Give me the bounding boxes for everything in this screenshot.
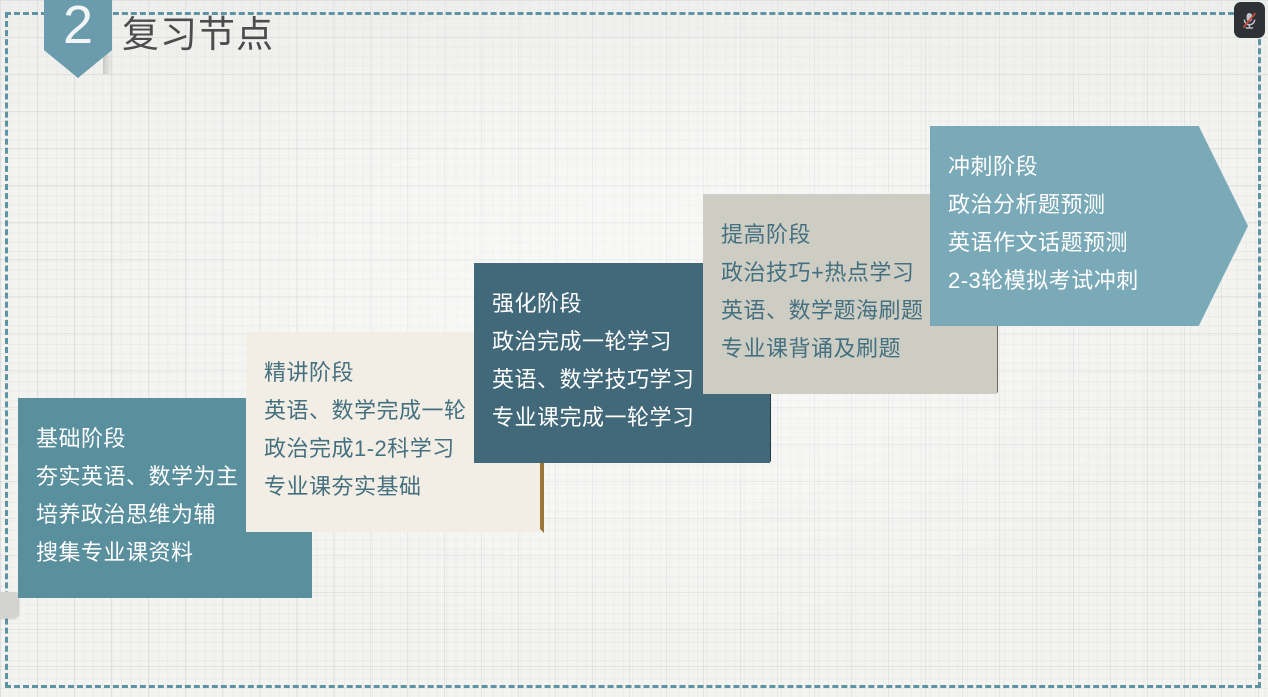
microphone-muted-icon xyxy=(1241,11,1258,30)
sidebar-handle[interactable] xyxy=(0,592,19,618)
slide-canvas: 2 复习节点 基础阶段夯实英语、数学为主培养政治思维为辅搜集专业课资料精讲阶段英… xyxy=(0,0,1268,697)
page-title: 复习节点 xyxy=(122,12,274,58)
stage-improve-item: 专业课背诵及刷题 xyxy=(721,330,981,368)
stage-foundation-item: 搜集专业课资料 xyxy=(36,534,296,572)
stage-sprint-item: 政治分析题预测 xyxy=(948,186,1232,224)
stage-sprint-item: 英语作文话题预测 xyxy=(948,224,1232,262)
stage-intensive-lecture-item: 专业课夯实基础 xyxy=(264,468,524,506)
stage-sprint-heading: 冲刺阶段 xyxy=(948,148,1232,186)
stage-sprint-item: 2-3轮模拟考试冲刺 xyxy=(948,262,1232,300)
stage-strengthen-item: 专业课完成一轮学习 xyxy=(492,399,754,437)
stage-sprint-content: 冲刺阶段政治分析题预测英语作文话题预测2-3轮模拟考试冲刺 xyxy=(930,126,1248,326)
microphone-muted-button[interactable] xyxy=(1234,2,1265,38)
section-number: 2 xyxy=(44,0,112,52)
stage-sprint[interactable]: 冲刺阶段政治分析题预测英语作文话题预测2-3轮模拟考试冲刺 xyxy=(930,126,1248,326)
